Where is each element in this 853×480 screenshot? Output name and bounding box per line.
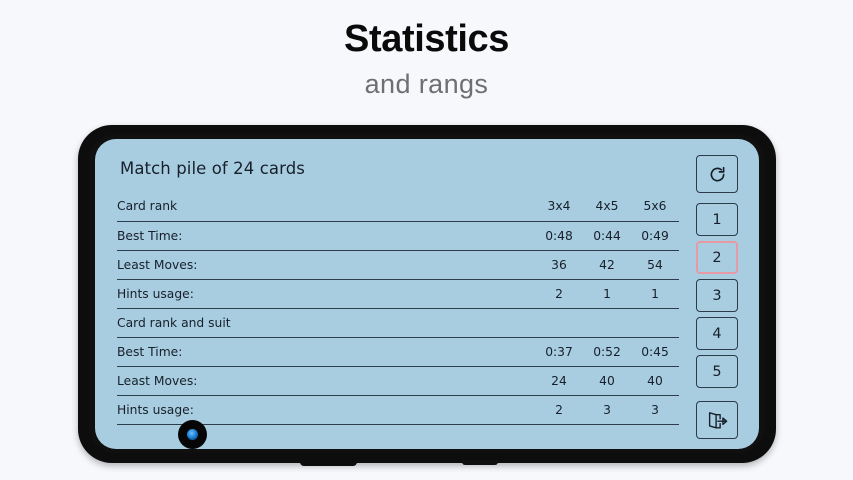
- table-row: Hints usage: 2 1 1: [117, 279, 679, 308]
- cell-value: 2: [535, 395, 583, 424]
- cell-value: 0:48: [535, 221, 583, 250]
- exit-door-arrow-icon: [706, 410, 729, 431]
- table-row: Best Time: 0:48 0:44 0:49: [117, 221, 679, 250]
- level-button-5[interactable]: 5: [696, 355, 738, 388]
- table-section-header-row: Card rank 3x4 4x5 5x6: [117, 192, 679, 221]
- row-label: Least Moves:: [117, 366, 535, 395]
- row-label: Best Time:: [117, 221, 535, 250]
- cell-value: 36: [535, 250, 583, 279]
- level-button-label: 3: [712, 288, 721, 304]
- app-screen-content: Match pile of 24 cards Card rank 3x4 4x5…: [95, 139, 759, 449]
- cell-value: 54: [631, 250, 679, 279]
- statistics-panel: Match pile of 24 cards Card rank 3x4 4x5…: [117, 153, 689, 439]
- cell-value: 0:52: [583, 337, 631, 366]
- statistics-table: Card rank 3x4 4x5 5x6 Best Time: 0:48 0:…: [117, 192, 679, 425]
- level-button-label: 4: [712, 326, 721, 342]
- camera-lens: [187, 429, 198, 440]
- level-button-label: 2: [712, 250, 721, 266]
- cell-value: 3: [583, 395, 631, 424]
- row-label: Best Time:: [117, 337, 535, 366]
- exit-button[interactable]: [696, 401, 738, 439]
- level-button-2[interactable]: 2: [696, 241, 738, 274]
- section2-col3-spacer: [631, 308, 679, 337]
- row-label: Least Moves:: [117, 250, 535, 279]
- section-label: Card rank and suit: [117, 308, 535, 337]
- refresh-circular-arrow-icon: [707, 164, 728, 185]
- level-button-4[interactable]: 4: [696, 317, 738, 350]
- cell-value: 0:45: [631, 337, 679, 366]
- restart-button[interactable]: [696, 155, 738, 193]
- row-label: Hints usage:: [117, 279, 535, 308]
- table-row: Least Moves: 24 40 40: [117, 366, 679, 395]
- cell-value: 40: [631, 366, 679, 395]
- table-row: Least Moves: 36 42 54: [117, 250, 679, 279]
- page-subtitle: and rangs: [0, 69, 853, 100]
- level-button-3[interactable]: 3: [696, 279, 738, 312]
- section-label: Card rank: [117, 192, 535, 221]
- front-camera-punch-hole-icon: [178, 420, 207, 449]
- cell-value: 2: [535, 279, 583, 308]
- phone-device-mockup: Match pile of 24 cards Card rank 3x4 4x5…: [78, 125, 776, 463]
- right-toolbar: 1 2 3 4 5: [689, 153, 745, 439]
- row-label: Hints usage:: [117, 395, 535, 424]
- column-header-4x5: 4x5: [583, 192, 631, 221]
- cell-value: 1: [631, 279, 679, 308]
- section2-col1-spacer: [535, 308, 583, 337]
- page-title: Statistics: [0, 18, 853, 62]
- phone-screen: Match pile of 24 cards Card rank 3x4 4x5…: [95, 139, 759, 449]
- cell-value: 0:44: [583, 221, 631, 250]
- section2-col2-spacer: [583, 308, 631, 337]
- cell-value: 24: [535, 366, 583, 395]
- column-header-3x4: 3x4: [535, 192, 583, 221]
- column-header-5x6: 5x6: [631, 192, 679, 221]
- cell-value: 1: [583, 279, 631, 308]
- screen-heading: Match pile of 24 cards: [120, 159, 679, 178]
- cell-value: 42: [583, 250, 631, 279]
- cell-value: 40: [583, 366, 631, 395]
- cell-value: 3: [631, 395, 679, 424]
- phone-bottom-nub: [300, 460, 357, 466]
- page-header: Statistics and rangs: [0, 0, 853, 100]
- cell-value: 0:49: [631, 221, 679, 250]
- level-button-1[interactable]: 1: [696, 203, 738, 236]
- phone-bottom-speaker: [462, 460, 498, 465]
- table-row: Best Time: 0:37 0:52 0:45: [117, 337, 679, 366]
- level-button-label: 5: [712, 364, 721, 380]
- cell-value: 0:37: [535, 337, 583, 366]
- table-row: Hints usage: 2 3 3: [117, 395, 679, 424]
- level-button-label: 1: [712, 212, 721, 228]
- table-section-header-row: Card rank and suit: [117, 308, 679, 337]
